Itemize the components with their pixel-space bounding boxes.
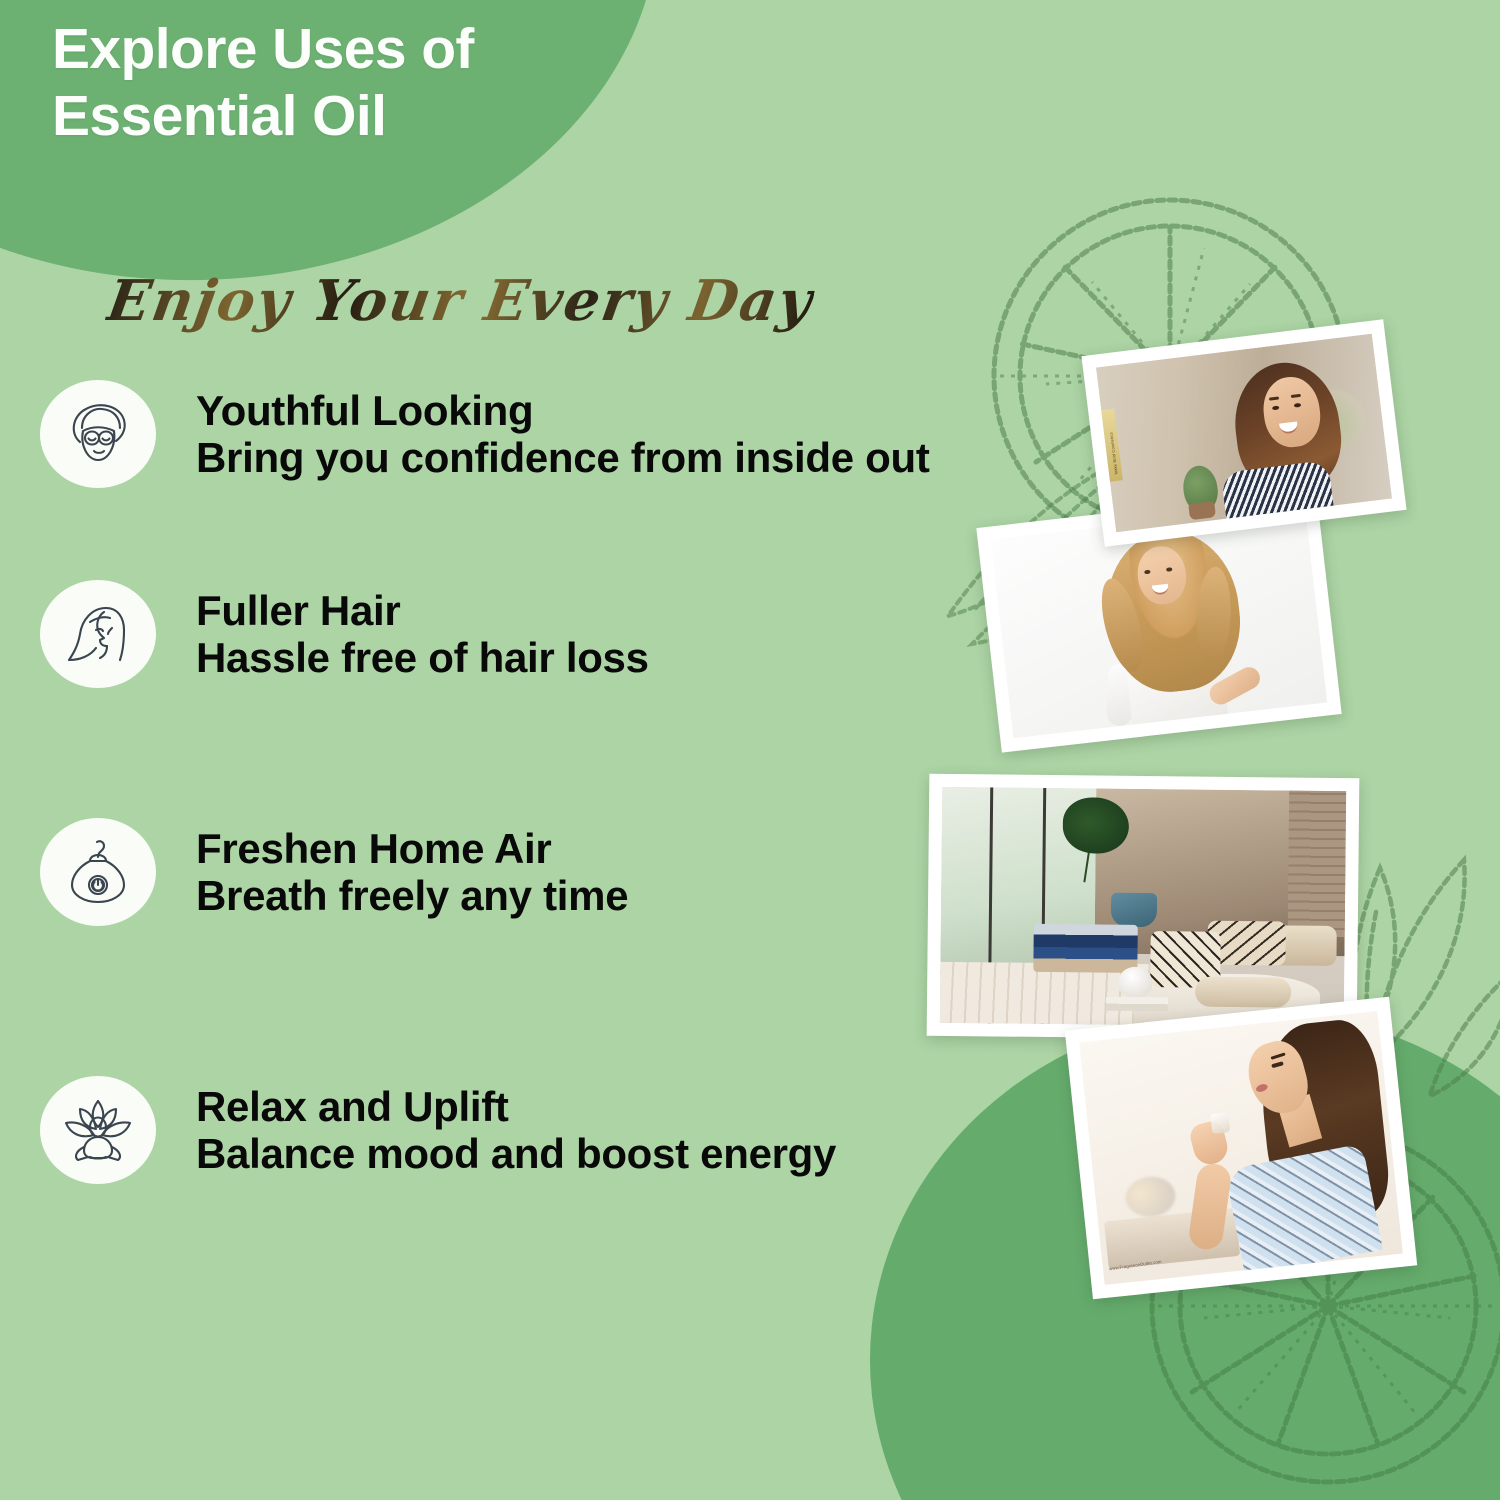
feature-row-youthful-looking: Youthful Looking Bring you confidence fr… [40, 380, 930, 488]
aroma-diffuser-icon [40, 818, 156, 926]
feature-subline: Bring you confidence from inside out [196, 434, 930, 481]
feature-headline: Fuller Hair [196, 587, 649, 634]
photo-smiling-woman-indoors: Make Bold Cosmetics [1081, 319, 1406, 547]
feature-row-relax-and-uplift: Relax and Uplift Balance mood and boost … [40, 1076, 836, 1184]
face-mask-icon [40, 380, 156, 488]
photo-woman-applying-perfume: www.FragranceOutlet.com [1065, 997, 1417, 1300]
feature-text-youthful-looking: Youthful Looking Bring you confidence fr… [196, 387, 930, 481]
feature-subline: Hassle free of hair loss [196, 634, 649, 681]
feature-row-fuller-hair: Fuller Hair Hassle free of hair loss [40, 580, 649, 688]
feature-subline: Breath freely any time [196, 872, 628, 919]
feature-row-freshen-home-air: Freshen Home Air Breath freely any time [40, 818, 628, 926]
long-hair-profile-icon [40, 580, 156, 688]
lotus-meditation-icon [40, 1076, 156, 1184]
feature-text-freshen-home-air: Freshen Home Air Breath freely any time [196, 825, 628, 919]
photo-cozy-living-room [927, 774, 1360, 1040]
feature-headline: Relax and Uplift [196, 1083, 836, 1130]
feature-text-fuller-hair: Fuller Hair Hassle free of hair loss [196, 587, 649, 681]
feature-text-relax-and-uplift: Relax and Uplift Balance mood and boost … [196, 1083, 836, 1177]
feature-headline: Freshen Home Air [196, 825, 628, 872]
feature-headline: Youthful Looking [196, 387, 930, 434]
feature-subline: Balance mood and boost energy [196, 1130, 836, 1177]
tagline: Enjoy Your Every Day [103, 268, 818, 334]
infographic-canvas: Explore Uses of Essential Oil Enjoy Your… [0, 0, 1500, 1500]
page-title: Explore Uses of Essential Oil [52, 16, 474, 149]
